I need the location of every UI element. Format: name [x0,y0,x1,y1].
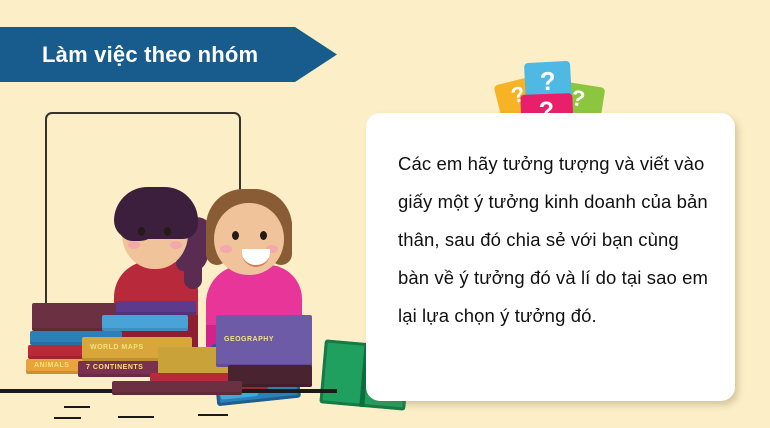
slide-canvas: Làm việc theo nhóm [0,0,770,428]
book-stack: ANIMALS7 CONTINENTSWORLD MAPSGEOGRAPHY [20,285,340,395]
child-left-cheek-right [170,241,182,249]
stacked-book [116,301,196,315]
chalk-dash-3 [118,416,154,418]
stacked-book-label: GEOGRAPHY [224,336,274,343]
child-left-cheek-left [128,241,140,249]
child-left-eye-left [138,227,145,236]
banner-label: Làm việc theo nhóm [42,42,258,68]
stacked-book-label: 7 CONTINENTS [86,364,143,371]
chalk-dash-2 [54,417,81,419]
child-right-eye-right [260,231,267,240]
stacked-book-label: WORLD MAPS [90,344,144,351]
illustration-children-reading: ATLAS ANIMALS7 CONTINENTSWORLD MAPSGEOGR… [0,95,360,428]
stacked-book [112,381,242,395]
stacked-book [102,315,188,331]
chalk-dash-1 [64,406,90,408]
instruction-card: Các em hãy tưởng tượng và viết vào giấy … [366,113,735,401]
section-banner: Làm việc theo nhóm [0,27,337,82]
child-right-eye-left [232,231,239,240]
instruction-text: Các em hãy tưởng tượng và viết vào giấy … [398,145,709,335]
child-left-eye-right [164,227,171,236]
child-right-cheek-left [220,245,232,253]
stacked-book: GEOGRAPHY [216,315,312,367]
chalk-dash-4 [198,414,228,416]
stacked-book-label: ANIMALS [34,362,69,369]
question-mark-glyph: ? [539,66,556,98]
child-left-bangs [118,205,158,241]
